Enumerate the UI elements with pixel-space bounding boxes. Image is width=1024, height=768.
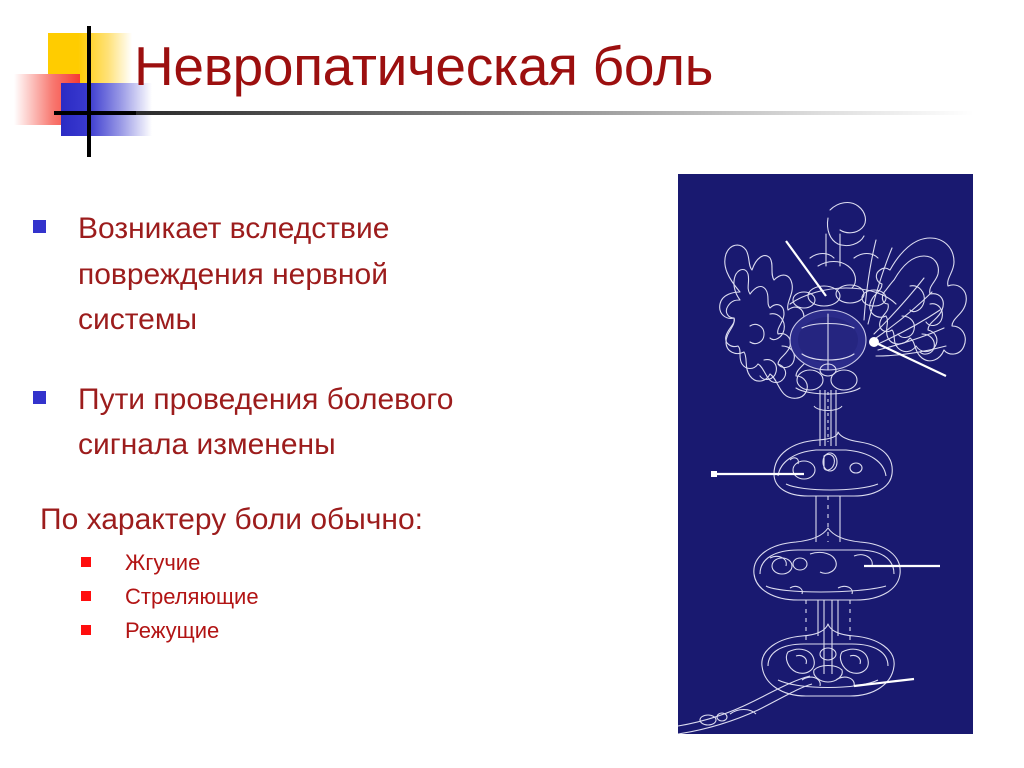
vertical-rule-icon: [87, 26, 91, 157]
neuroanatomy-illustration: [678, 174, 973, 734]
title-underline: [136, 111, 974, 115]
pain-pathway-diagram-svg: [678, 174, 973, 734]
list-item: Режущие: [81, 614, 626, 648]
list-item-label: Стреляющие: [125, 584, 259, 609]
small-square-bullet-icon: [81, 625, 91, 635]
bullet-text: Возникает вследствие повреждения нервной…: [78, 206, 626, 343]
list-item-label: Режущие: [125, 618, 219, 643]
bullet-line: повреждения нервной: [78, 252, 626, 298]
list-item: Жгучие: [81, 546, 626, 580]
bullet-line: Возникает вследствие: [78, 206, 626, 252]
square-bullet-icon: [33, 220, 46, 233]
small-square-bullet-icon: [81, 591, 91, 601]
bullet-line: Пути проведения болевого: [78, 377, 626, 423]
small-square-bullet-icon: [81, 557, 91, 567]
slide-body: Возникает вследствие повреждения нервной…: [26, 206, 626, 648]
slide-title: Невропатическая боль: [134, 38, 964, 95]
square-bullet-icon: [33, 391, 46, 404]
slide-root: Невропатическая боль Возникает вследстви…: [0, 0, 1024, 768]
pain-character-list: Жгучие Стреляющие Режущие: [81, 546, 626, 648]
bullet-item: Возникает вследствие повреждения нервной…: [26, 206, 626, 343]
bullet-item: Пути проведения болевого сигнала изменен…: [26, 377, 626, 468]
pain-character-section: По характеру боли обычно: Жгучие Стреляю…: [26, 502, 626, 648]
bullet-text: Пути проведения болевого сигнала изменен…: [78, 377, 626, 468]
list-item-label: Жгучие: [125, 550, 200, 575]
bullet-line: системы: [78, 297, 626, 343]
section-heading: По характеру боли обычно:: [40, 502, 626, 538]
list-item: Стреляющие: [81, 580, 626, 614]
bullet-line: сигнала изменены: [78, 422, 626, 468]
